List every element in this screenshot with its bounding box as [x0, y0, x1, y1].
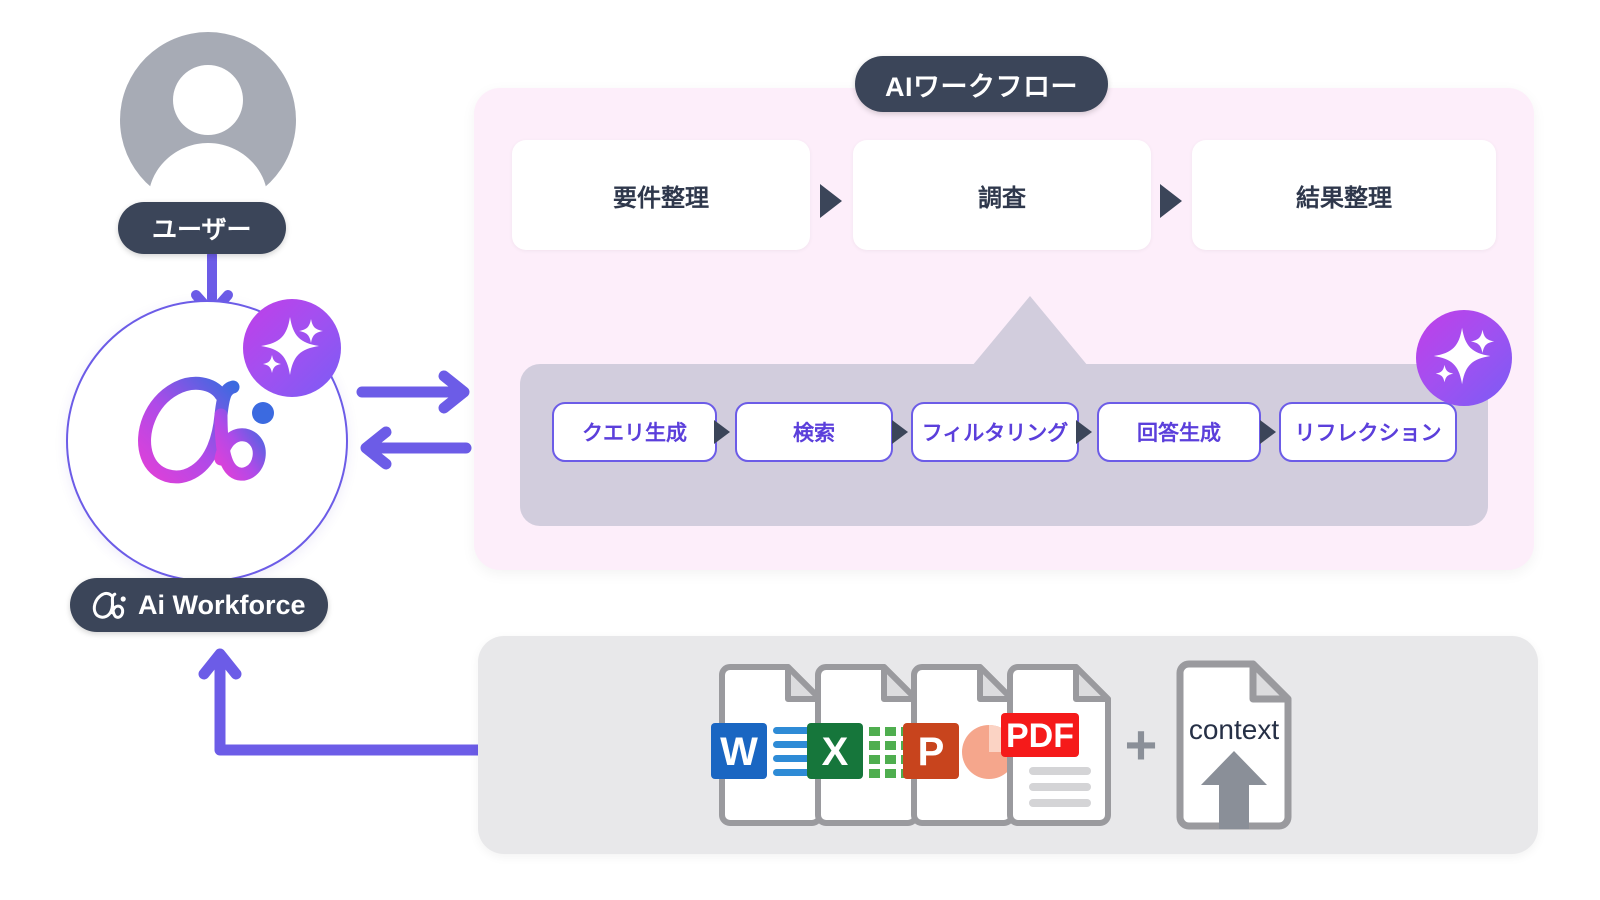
triangle-right-icon: [1076, 420, 1092, 444]
sparkle-icon: [253, 309, 331, 387]
svg-text:PDF: PDF: [1006, 717, 1074, 755]
connector-documents-to-agent: [190, 630, 490, 770]
agent-label: Ai Workforce: [138, 590, 306, 621]
pdf-document-icon[interactable]: PDF: [1005, 665, 1113, 825]
workflow-stage-box[interactable]: 要件整理: [512, 140, 810, 250]
workflow-stage-label: 結果整理: [1296, 178, 1392, 213]
arrow-left-icon: [366, 432, 466, 464]
pipeline-step-label: クエリ生成: [582, 417, 687, 447]
pipeline-step-chip[interactable]: 検索: [735, 402, 893, 462]
pipeline-step-chip[interactable]: クエリ生成: [552, 402, 717, 462]
triangle-right-icon: [1260, 420, 1276, 444]
context-label: context: [1189, 714, 1279, 745]
arrow-up-elbow-icon: [190, 630, 490, 770]
plus-sign: +: [1125, 717, 1158, 773]
workflow-title-pill: AIワークフロー: [855, 56, 1108, 112]
powerpoint-document-icon[interactable]: P: [909, 665, 1017, 825]
triangle-right-icon: [1160, 184, 1182, 218]
agent-label-pill: Ai Workforce: [70, 578, 328, 632]
workflow-stage-box[interactable]: 結果整理: [1192, 140, 1496, 250]
pipeline-pointer-triangle: [972, 296, 1088, 366]
user-label: ユーザー: [152, 210, 252, 246]
pipeline-step-chip[interactable]: フィルタリング: [911, 402, 1079, 462]
pipeline-step-chip[interactable]: リフレクション: [1279, 402, 1457, 462]
documents-panel: W X: [478, 636, 1538, 854]
pipeline-panel: クエリ生成 検索 フィルタリング 回答生成 リフレクション: [520, 364, 1488, 526]
sparkle-badge-workflow: [1416, 310, 1512, 406]
ai-workflow-panel: 要件整理 調査 結果整理 クエリ生成 検索 フィルタリング: [474, 88, 1534, 570]
svg-text:X: X: [821, 730, 848, 774]
user-label-pill: ユーザー: [118, 202, 286, 254]
workflow-title-label: AIワークフロー: [885, 65, 1078, 104]
diagram-canvas: ユーザー: [0, 0, 1600, 900]
pipeline-step-chip[interactable]: 回答生成: [1097, 402, 1261, 462]
triangle-right-icon: [714, 420, 730, 444]
context-document-icon[interactable]: context: [1175, 661, 1293, 829]
user-avatar-icon: [120, 32, 296, 208]
workflow-stage-label: 要件整理: [613, 178, 709, 213]
triangle-right-icon: [820, 184, 842, 218]
workflow-stage-box[interactable]: 調査: [853, 140, 1151, 250]
pipeline-step-label: フィルタリング: [922, 417, 1069, 447]
workflow-stage-label: 調査: [978, 178, 1026, 213]
triangle-right-icon: [892, 420, 908, 444]
pipeline-step-label: リフレクション: [1295, 417, 1442, 447]
svg-text:W: W: [720, 730, 758, 774]
arrow-right-icon: [362, 376, 464, 408]
ai-logo-small-icon: [92, 591, 128, 619]
sparkle-badge-agent: [243, 299, 341, 397]
connector-agent-workflow: [340, 360, 490, 480]
user-avatar: [120, 32, 296, 208]
sparkle-icon: [1426, 320, 1502, 396]
svg-text:P: P: [917, 730, 944, 774]
pipeline-step-label: 検索: [793, 417, 835, 447]
pipeline-step-label: 回答生成: [1137, 417, 1221, 447]
